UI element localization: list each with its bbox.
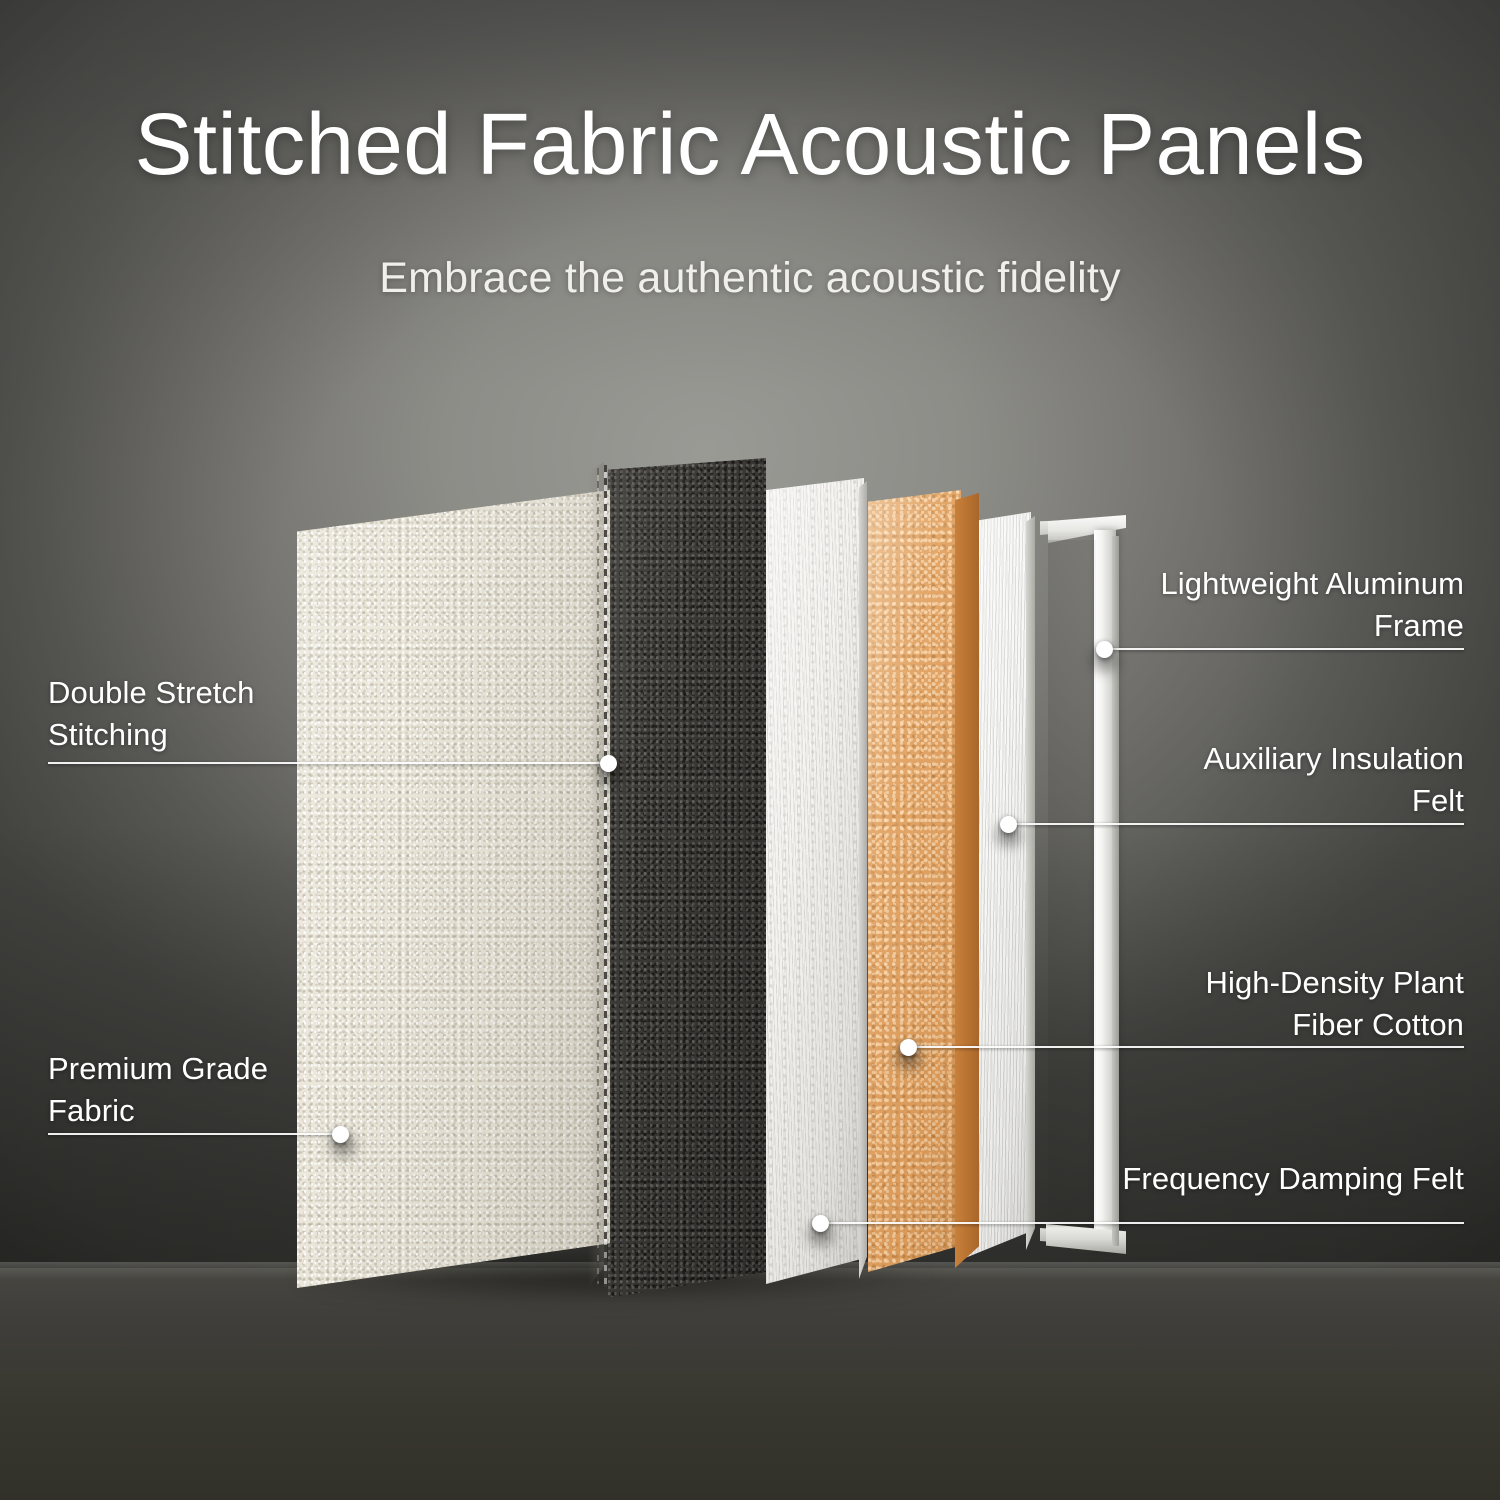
callout-line-double-stretch-stitching xyxy=(48,762,610,764)
infographic-canvas: Stitched Fabric Acoustic Panels Embrace … xyxy=(0,0,1500,1500)
callout-label-frequency-damping-felt: Frequency Damping Felt xyxy=(1000,1158,1464,1200)
callout-label-high-density-plant-fiber-cotton: High-Density Plant Fiber Cotton xyxy=(1070,962,1464,1046)
layer-high-density-plant-fiber-cotton[interactable] xyxy=(868,490,961,1272)
callout-label-premium-grade-fabric: Premium Grade Fabric xyxy=(48,1048,378,1132)
layer-premium-grade-fabric[interactable] xyxy=(297,490,610,1288)
callout-line-premium-grade-fabric xyxy=(48,1133,342,1135)
callout-line-auxiliary-insulation-felt xyxy=(1010,823,1464,825)
cotton-board-right-edge xyxy=(955,493,979,1268)
callout-line-frequency-damping-felt xyxy=(822,1222,1464,1224)
callout-label-double-stretch-stitching: Double Stretch Stitching xyxy=(48,672,378,756)
white-felt-right-edge xyxy=(859,481,867,1279)
callout-dot-lightweight-aluminum-frame[interactable] xyxy=(1096,641,1113,658)
callout-dot-auxiliary-insulation-felt[interactable] xyxy=(1000,816,1017,833)
fabric-fold-shading xyxy=(588,462,604,1288)
callout-label-auxiliary-insulation-felt: Auxiliary Insulation Felt xyxy=(1070,738,1464,822)
callout-dot-frequency-damping-felt[interactable] xyxy=(812,1215,829,1232)
callout-line-lightweight-aluminum-frame xyxy=(1106,648,1464,650)
callout-line-high-density-plant-fiber-cotton xyxy=(910,1046,1464,1048)
callout-dot-double-stretch-stitching[interactable] xyxy=(600,755,617,772)
layer-frequency-damping-felt[interactable] xyxy=(608,458,766,1298)
callout-dot-high-density-plant-fiber-cotton[interactable] xyxy=(900,1039,917,1056)
layer-white-acoustic-felt[interactable] xyxy=(766,478,864,1284)
insulation-felt-right-edge xyxy=(1026,516,1035,1250)
callout-label-lightweight-aluminum-frame: Lightweight Aluminum Frame xyxy=(1070,563,1464,647)
callout-dot-premium-grade-fabric[interactable] xyxy=(332,1126,349,1143)
double-stretch-stitch-seam xyxy=(604,465,607,1287)
double-stretch-stitch-seam-inner xyxy=(597,468,599,1284)
